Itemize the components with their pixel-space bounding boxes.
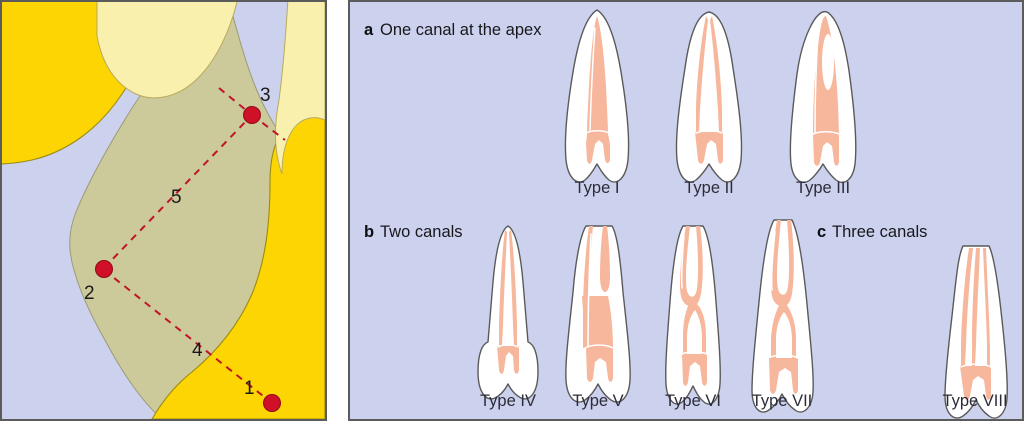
dental-root-canal-figure: 3 2 1 5 4 a One canal at the apex b Two … [0,0,1024,421]
distance-label-4: 4 [192,340,203,361]
type-label-vii: Type VII [752,392,813,410]
group-letter-b: b [364,223,374,241]
type-label-i: Type I [575,179,620,197]
distance-label-5: 5 [171,187,182,208]
marker-label-2: 2 [84,283,95,304]
type-label-v: Type V [572,392,623,410]
marker-point-2[interactable] [96,261,113,278]
type-label-iii: Type III [796,179,850,197]
marker-label-3: 3 [260,85,271,106]
group-caption-a: One canal at the apex [380,21,542,39]
group-letter-c: c [817,223,826,241]
type-label-vi: Type VI [665,392,721,410]
marker-label-1: 1 [244,378,255,399]
marker-point-3[interactable] [244,107,261,124]
type-label-iv: Type IV [480,392,536,410]
marker-point-1[interactable] [264,395,281,412]
type-label-ii: Type II [684,179,734,197]
canal-types-svg: a One canal at the apex b Two canals c T… [350,2,1022,419]
group-caption-c: Three canals [832,223,927,241]
left-anatomy-panel: 3 2 1 5 4 [0,0,327,421]
group-caption-b: Two canals [380,223,463,241]
group-letter-a: a [364,21,374,39]
type-label-viii: Type VIII [942,392,1007,410]
anatomy-cross-section-svg: 3 2 1 5 4 [2,2,325,419]
right-canal-types-panel: a One canal at the apex b Two canals c T… [348,0,1024,421]
pulp-void [822,34,834,90]
